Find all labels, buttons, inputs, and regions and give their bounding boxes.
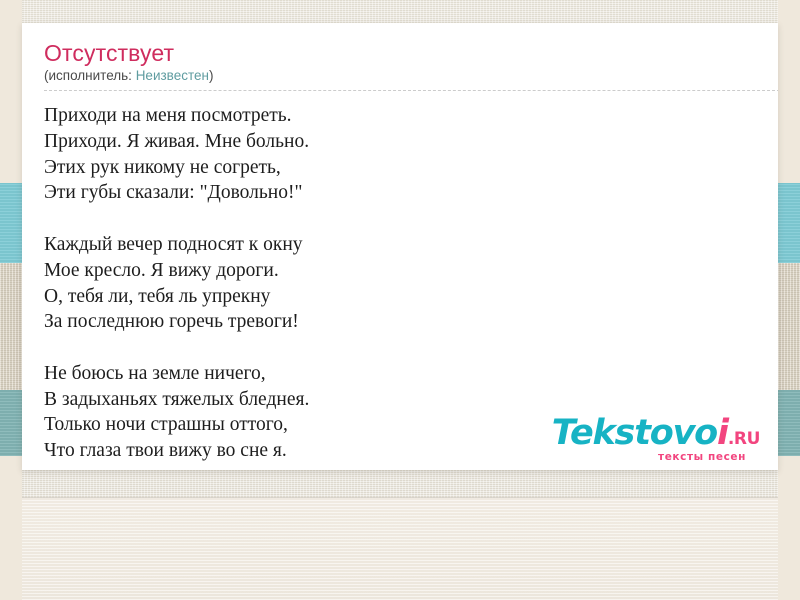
logo-i-dot: i: [717, 413, 728, 453]
artist-suffix: ): [209, 68, 214, 83]
background-seam-line: [0, 497, 800, 498]
page-title: Отсутствует: [44, 39, 756, 67]
strip-block-sand: [778, 263, 800, 390]
artist-link[interactable]: Неизвестен: [136, 68, 209, 83]
logo-tld: .RU: [728, 429, 760, 449]
artist-line: (исполнитель: Неизвестен): [44, 68, 756, 90]
strip-block-sand: [0, 263, 22, 390]
logo-tagline: тексты песен: [552, 452, 746, 463]
strip-block-teal-light: [778, 183, 800, 263]
logo-wordmark: Tekstovoi.RU: [552, 416, 760, 451]
artist-label: (исполнитель:: [44, 68, 136, 83]
lyrics-text: Приходи на меня посмотреть. Приходи. Я ж…: [44, 103, 756, 464]
strip-block-cream-bottom: [778, 456, 800, 600]
header-divider: [44, 90, 778, 91]
strip-block-teal-dark: [778, 390, 800, 456]
lyrics-card: Отсутствует (исполнитель: Неизвестен) Пр…: [22, 23, 778, 470]
strip-block-teal-dark: [0, 390, 22, 456]
site-logo[interactable]: Tekstovoi.RU тексты песен: [552, 416, 760, 463]
decorative-strip-left: [0, 0, 22, 600]
strip-block-cream-top: [778, 0, 800, 183]
decorative-strip-right: [778, 0, 800, 600]
page-root: Отсутствует (исполнитель: Неизвестен) Пр…: [0, 0, 800, 600]
logo-wordmark-main: Tekstovo: [552, 413, 717, 453]
background-lower-band: [0, 498, 800, 600]
strip-block-cream-bottom: [0, 456, 22, 600]
strip-block-cream-top: [0, 0, 22, 183]
strip-block-teal-light: [0, 183, 22, 263]
